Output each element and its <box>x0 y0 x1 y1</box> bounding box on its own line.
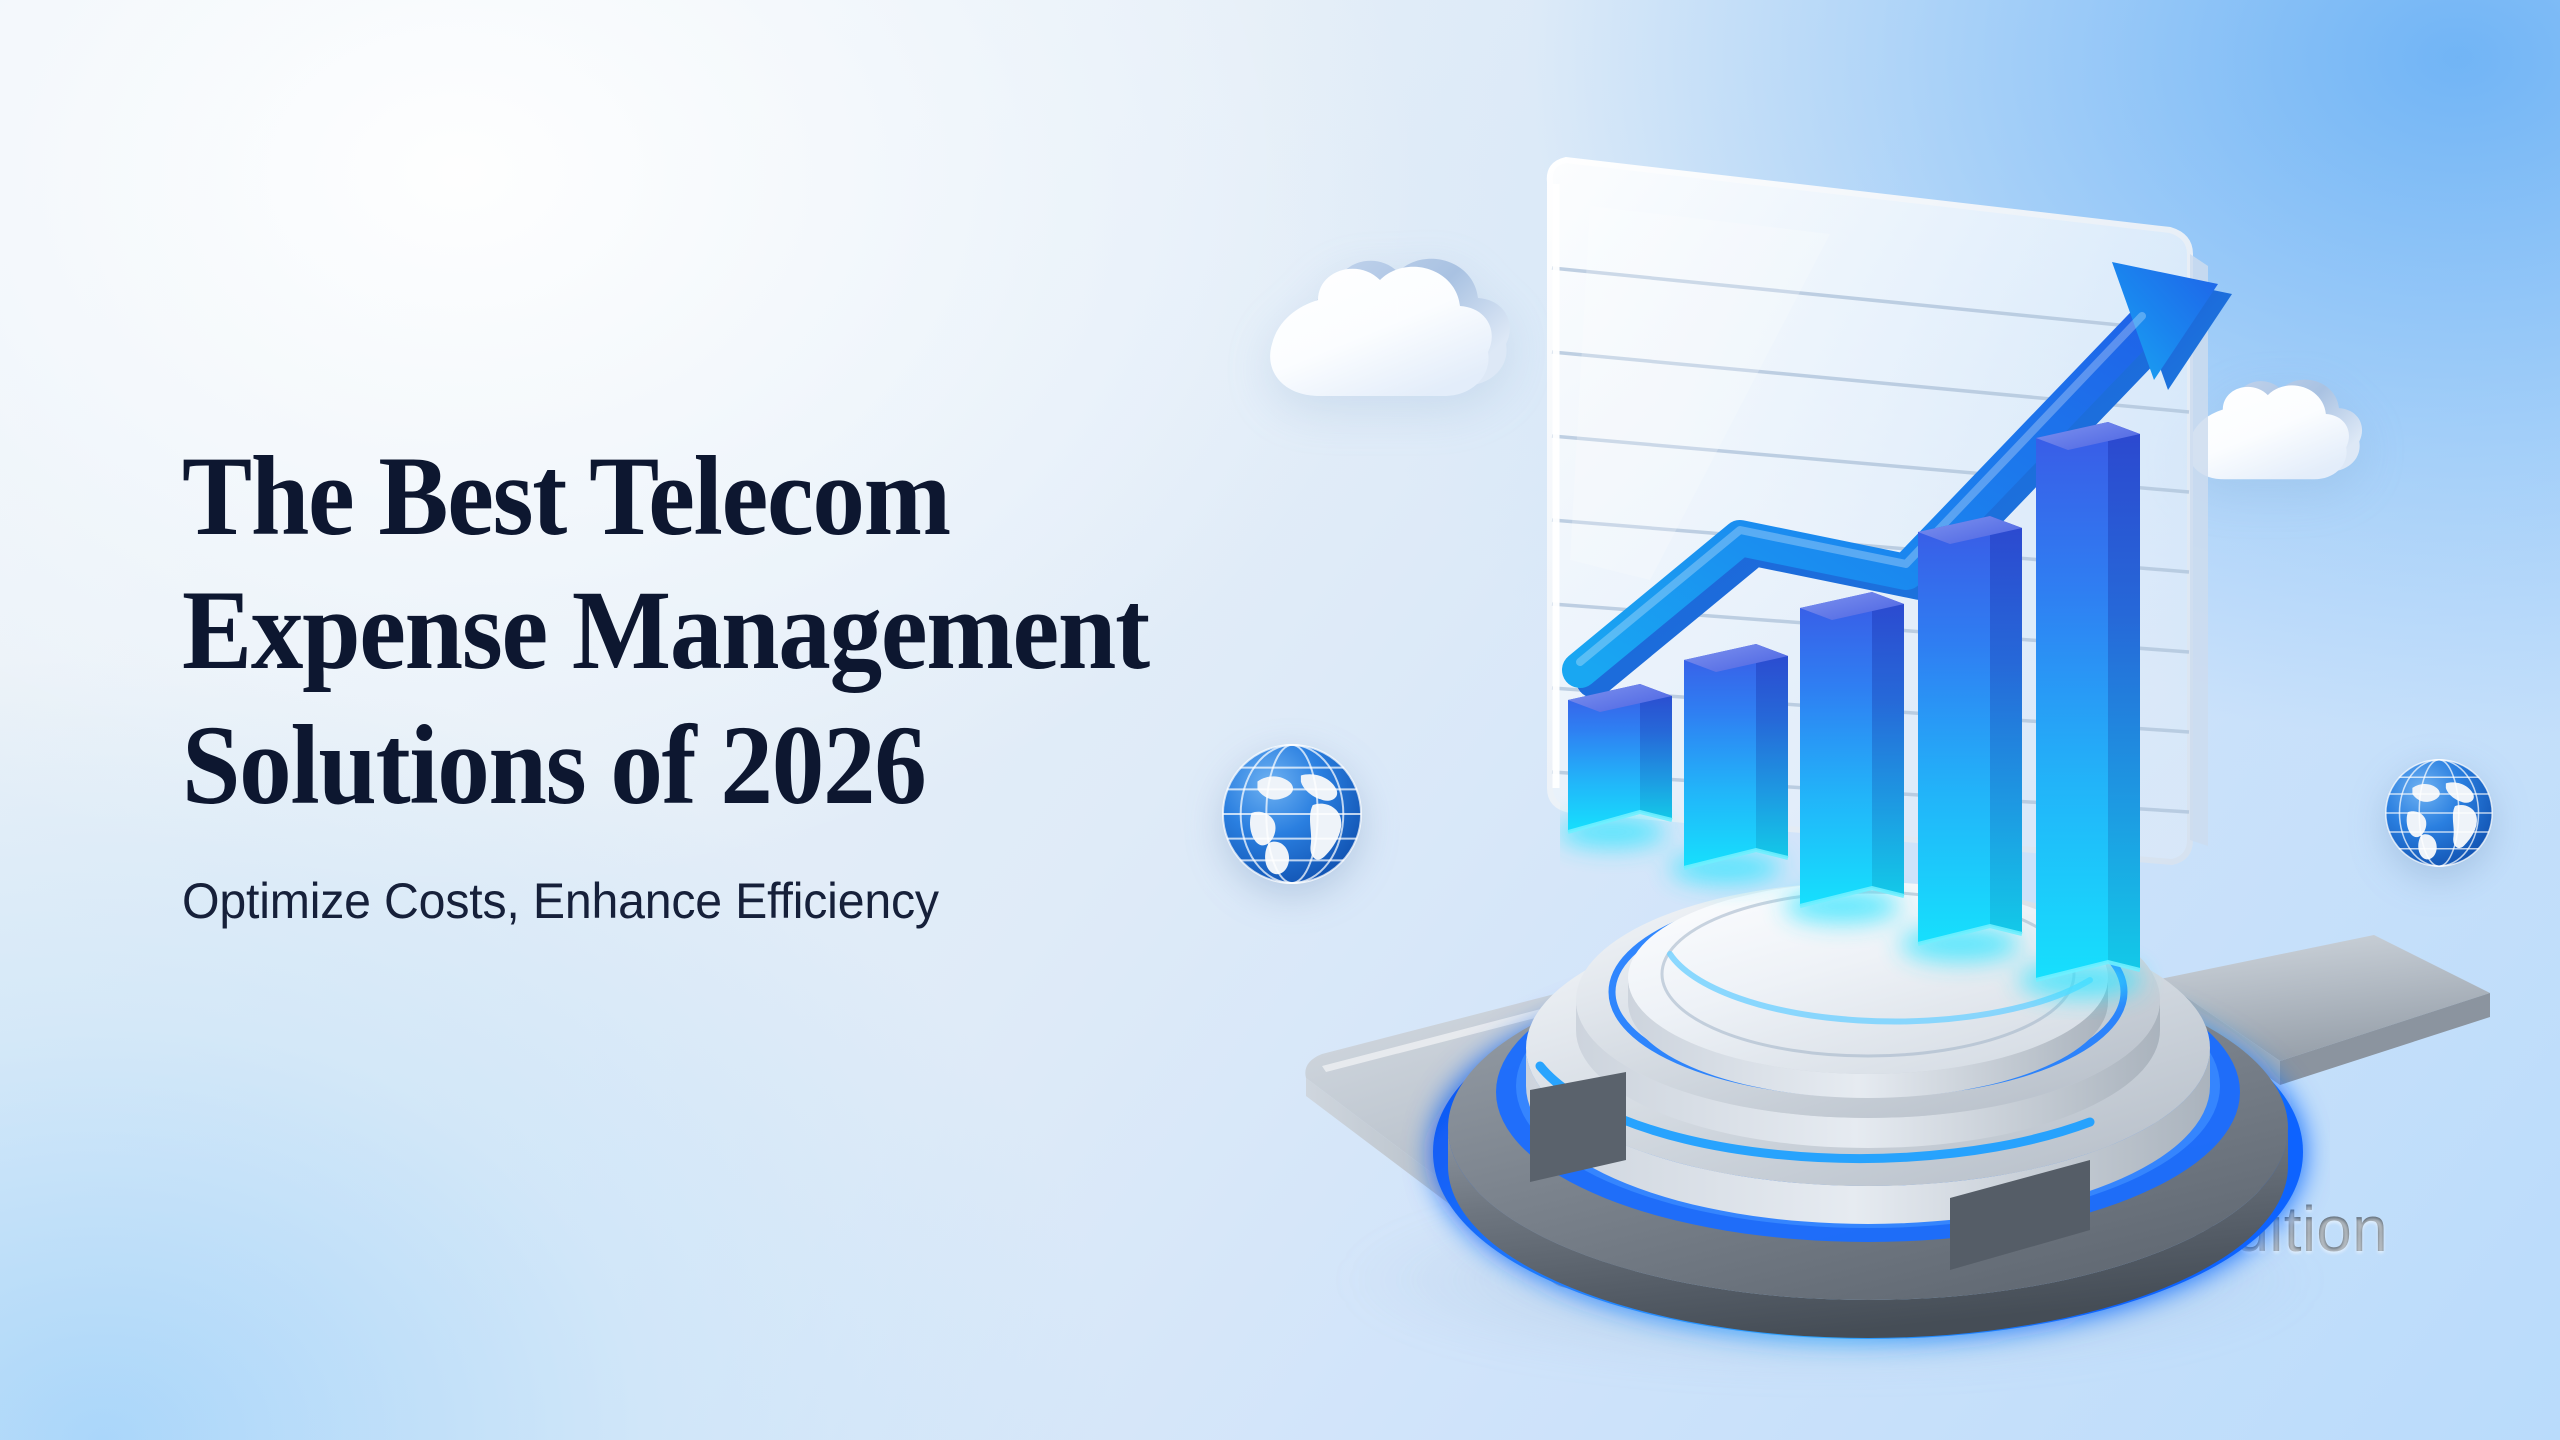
page-subtitle: Optimize Costs, Enhance Efficiency <box>182 871 1359 931</box>
bar-3 <box>1800 592 1904 906</box>
bar-1 <box>1568 684 1672 832</box>
bar-5 <box>2036 422 2140 980</box>
globe-icon <box>1218 740 1366 893</box>
bar-chart <box>1560 420 2200 1020</box>
bar-4 <box>1918 516 2022 944</box>
globe-icon <box>2382 756 2496 875</box>
bar-2 <box>1684 644 1788 868</box>
hero-illustration <box>1230 90 2560 1350</box>
page-title: The Best Telecom Expense Management Solu… <box>182 430 1317 833</box>
hero-banner: The Best Telecom Expense Management Solu… <box>0 0 2560 1440</box>
cloud-icon <box>1248 240 1518 430</box>
